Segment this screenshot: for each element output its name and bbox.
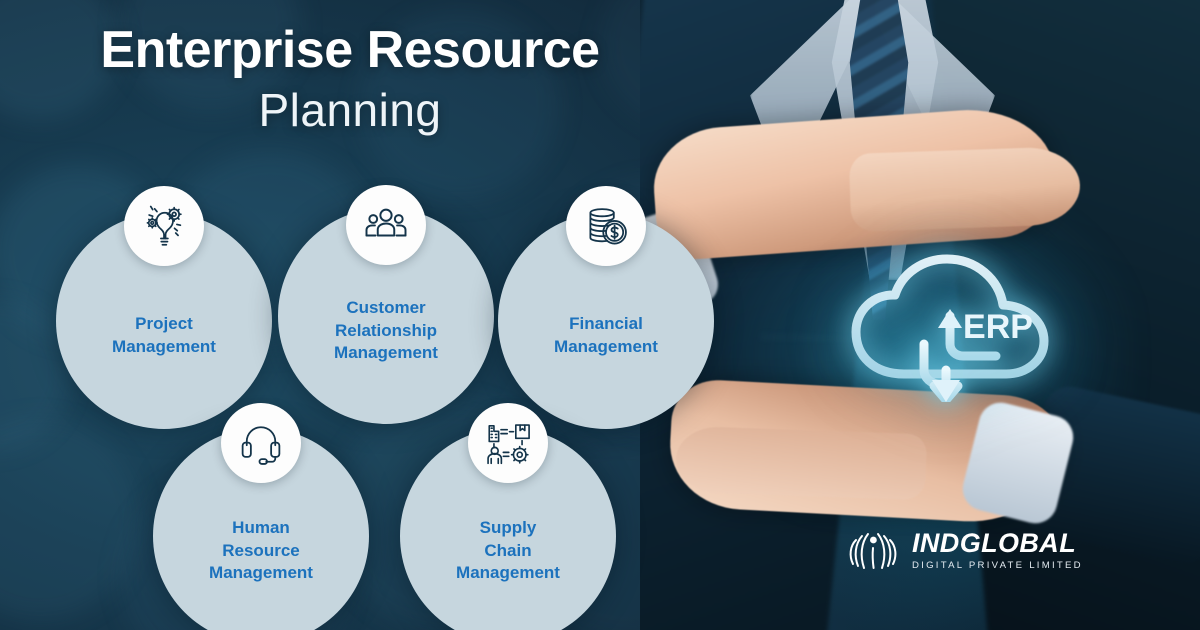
- headline-secondary: Planning: [0, 82, 700, 140]
- coins-dollar-icon: [581, 201, 631, 251]
- feature-label: Supply Chain Management: [446, 517, 570, 585]
- badge-headset[interactable]: [221, 403, 301, 483]
- headline-primary: Enterprise Resource: [0, 22, 700, 78]
- headset-icon: [237, 419, 285, 467]
- upper-hand-fingers: [849, 146, 1082, 232]
- brand-logo[interactable]: INDGLOBAL DIGITAL PRIVATE LIMITED: [846, 528, 1083, 572]
- lower-hand-fingers: [675, 426, 927, 501]
- badge-supply-chain[interactable]: [468, 403, 548, 483]
- feature-label: Customer Relationship Management: [324, 297, 448, 365]
- erp-banner: ERP Enterprise Resource Planning Project…: [0, 0, 1200, 630]
- erp-hologram-label: ERP: [963, 308, 1033, 346]
- supply-chain-icon: [483, 418, 533, 468]
- globe-swirl-icon: [846, 528, 900, 572]
- feature-label: Financial Management: [544, 313, 668, 359]
- cloud-sync-arrows-icon: ERP: [846, 252, 1056, 402]
- feature-label: Project Management: [102, 313, 226, 359]
- badge-people-group[interactable]: [346, 185, 426, 265]
- badge-coins-dollar[interactable]: [566, 186, 646, 266]
- page-title: Enterprise Resource Planning: [0, 22, 700, 140]
- logo-company-name: INDGLOBAL: [912, 530, 1083, 557]
- lightbulb-gears-icon: [139, 201, 189, 251]
- feature-label: Human Resource Management: [199, 517, 323, 585]
- badge-lightbulb-gears[interactable]: [124, 186, 204, 266]
- logo-tagline: DIGITAL PRIVATE LIMITED: [912, 561, 1083, 571]
- people-group-icon: [362, 201, 410, 249]
